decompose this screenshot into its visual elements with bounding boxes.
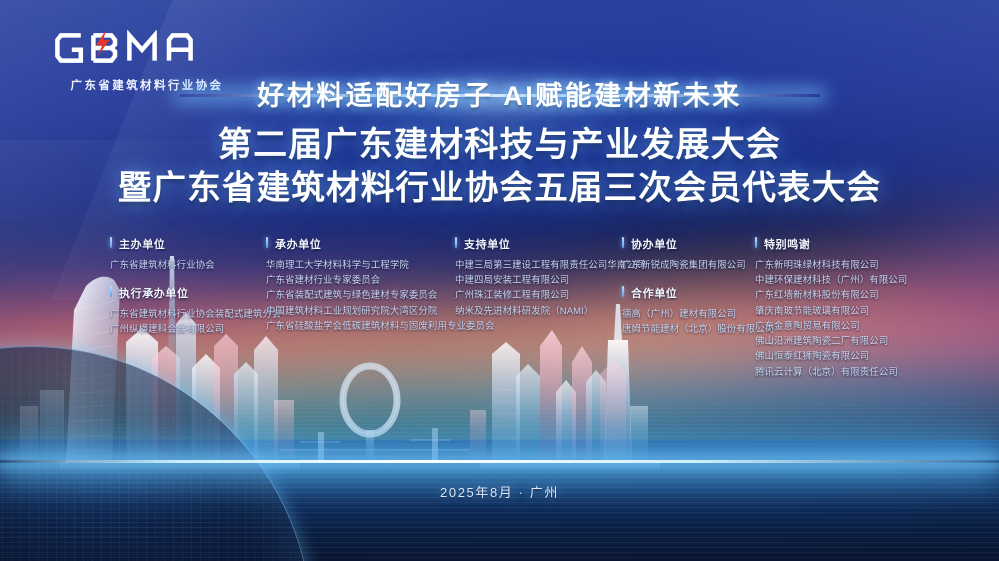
sponsor-heading: 主办单位 (110, 236, 281, 252)
sponsor-item: 中建四局安装工程有限公司 (455, 272, 646, 287)
sponsor-item: 广东新锐成陶瓷集团有限公司 (622, 257, 774, 272)
sponsor-item: 肇庆南玻节能玻璃有限公司 (755, 303, 907, 318)
sponsor-column-5: 特别鸣谢 广东新明珠绿材科技有限公司 中建环保建材科技（广州）有限公司 广东红墙… (755, 236, 907, 392)
sponsor-item: 广东金意陶贸易有限公司 (755, 318, 907, 333)
conference-poster: 广东省建筑材料行业协会 好材料适配好房子 AI赋能建材新未来 第二届广东建材科技… (0, 0, 999, 561)
sponsor-heading: 合作单位 (622, 285, 774, 301)
sponsor-item: 佛山沿洲建筑陶瓷二厂有限公司 (755, 333, 907, 348)
sponsor-heading: 协办单位 (622, 236, 774, 252)
event-date-location: 2025年8月 · 广州 (0, 482, 999, 501)
sponsor-item: 广东新明珠绿材科技有限公司 (755, 257, 907, 272)
sponsor-heading: 支持单位 (455, 236, 646, 252)
sponsor-group-executive-organizer: 执行承办单位 广东省建筑材料行业协会装配式建筑分会 广州纵横建科会展有限公司 (110, 285, 281, 336)
sponsor-item: 中建三局第三建设工程有限责任公司华南公司 (455, 257, 646, 272)
title-line-2: 暨广东省建筑材料行业协会五届三次会员代表大会 (0, 168, 999, 211)
sponsor-heading: 特别鸣谢 (755, 236, 907, 252)
sponsor-item: 腾讯云计算（北京）有限责任公司 (755, 364, 907, 379)
sponsor-column-3: 支持单位 中建三局第三建设工程有限责任公司华南公司 中建四局安装工程有限公司 广… (455, 236, 646, 331)
sponsor-column-4: 协办单位 广东新锐成陶瓷集团有限公司 合作单位 德高（广州）建材有限公司 唐姆节… (622, 236, 774, 350)
sponsor-item: 广州纵横建科会展有限公司 (110, 321, 281, 336)
sponsor-item: 佛山恒泰红狮陶瓷有限公司 (755, 348, 907, 363)
sponsor-item: 纳米及先进材料研发院（NAMI） (455, 303, 646, 318)
slogan-text: 好材料适配好房子 AI赋能建材新未来 (257, 74, 742, 113)
sponsor-item: 广东省建筑材料行业协会 (110, 257, 281, 272)
sponsor-group-partner: 合作单位 德高（广州）建材有限公司 唐姆节能建材（北京）股份有限公司 (622, 285, 774, 336)
sponsor-heading: 执行承办单位 (110, 285, 281, 301)
gbma-logo-mark (52, 30, 232, 66)
scanline-texture-lower (0, 462, 999, 561)
title-line-1: 第二届广东建材科技与产业发展大会 (0, 124, 999, 168)
sponsor-column-1: 主办单位 广东省建筑材料行业协会 执行承办单位 广东省建筑材料行业协会装配式建筑… (110, 236, 281, 350)
sponsor-group-special-thanks: 特别鸣谢 广东新明珠绿材科技有限公司 中建环保建材科技（广州）有限公司 广东红墙… (755, 236, 907, 379)
sponsor-item: 广州珠江装修工程有限公司 (455, 287, 646, 302)
sponsor-item: 中建环保建材科技（广州）有限公司 (755, 272, 907, 287)
sponsor-item: 广东红墙新材料股份有限公司 (755, 287, 907, 302)
sponsor-item: 唐姆节能建材（北京）股份有限公司 (622, 321, 774, 336)
page-title: 第二届广东建材科技与产业发展大会 暨广东省建筑材料行业协会五届三次会员代表大会 (0, 124, 999, 210)
sponsor-group-supporter: 支持单位 中建三局第三建设工程有限责任公司华南公司 中建四局安装工程有限公司 广… (455, 236, 646, 318)
sponsor-columns: 主办单位 广东省建筑材料行业协会 执行承办单位 广东省建筑材料行业协会装配式建筑… (110, 236, 940, 346)
sponsor-item: 德高（广州）建材有限公司 (622, 306, 774, 321)
sponsor-group-organizer: 主办单位 广东省建筑材料行业协会 (110, 236, 281, 272)
sponsor-item: 广东省建筑材料行业协会装配式建筑分会 (110, 306, 281, 321)
sponsor-group-assistant-organizer: 协办单位 广东新锐成陶瓷集团有限公司 (622, 236, 774, 272)
slogan-area: 好材料适配好房子 AI赋能建材新未来 (0, 74, 999, 113)
